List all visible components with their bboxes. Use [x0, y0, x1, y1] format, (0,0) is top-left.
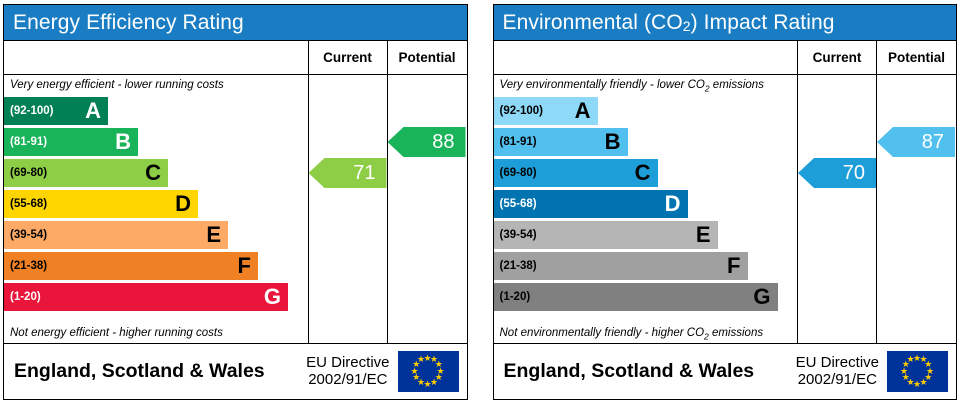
- energy-band-a-range: (92-100): [10, 105, 53, 117]
- energy-bars-column: Very energy efficient - lower running co…: [4, 75, 309, 343]
- co2-band-d: (55-68) D: [494, 190, 688, 218]
- energy-band-b-letter: B: [115, 131, 131, 153]
- co2-band-b-letter: B: [605, 131, 621, 153]
- energy-potential-arrow: 88: [388, 127, 466, 157]
- energy-chart-footer: England, Scotland & Wales EU Directive 2…: [4, 344, 467, 398]
- energy-band-e-letter: E: [206, 224, 221, 246]
- table-row: (55-68) D: [4, 188, 308, 219]
- co2-band-c: (69-80) C: [494, 159, 658, 187]
- co2-band-f-letter: F: [727, 255, 740, 277]
- energy-directive-line2: 2002/91/EC: [306, 371, 389, 388]
- co2-impact-rating-chart: Environmental (CO2) Impact Rating Curren…: [493, 4, 957, 400]
- co2-top-note: Very environmentally friendly - lower CO…: [494, 75, 798, 94]
- energy-top-note-text: Very energy efficient - lower running co…: [10, 79, 224, 91]
- co2-chart-title-tail: ) Impact Rating: [691, 11, 835, 35]
- co2-band-b: (81-91) B: [494, 128, 628, 156]
- energy-directive-line1: EU Directive: [306, 354, 389, 371]
- energy-band-c-letter: C: [145, 162, 161, 184]
- energy-band-c-range: (69-80): [10, 167, 47, 179]
- co2-band-c-letter: C: [635, 162, 651, 184]
- co2-band-c-range: (69-80): [500, 167, 537, 179]
- eu-star-icon: ★: [417, 355, 425, 364]
- energy-band-g-range: (1-20): [10, 291, 41, 303]
- table-row: (55-68) D: [494, 188, 798, 219]
- energy-chart-title: Energy Efficiency Rating: [4, 5, 467, 41]
- table-row: (1-20) G: [4, 281, 308, 312]
- co2-bars-column: Very environmentally friendly - lower CO…: [494, 75, 799, 343]
- energy-header-current: Current: [309, 41, 388, 74]
- eu-flag-icon: ★★★★★★★★★★★★: [887, 351, 948, 392]
- energy-footer-directive: EU Directive 2002/91/EC: [306, 354, 397, 389]
- energy-current-arrow: 71: [309, 158, 387, 188]
- co2-potential-arrow: 87: [877, 127, 955, 157]
- energy-band-c: (69-80) C: [4, 159, 168, 187]
- co2-band-g-letter: G: [753, 286, 770, 308]
- co2-band-d-letter: D: [665, 193, 681, 215]
- energy-potential-value: 88: [432, 131, 454, 154]
- energy-header-potential: Potential: [388, 41, 467, 74]
- co2-band-a-range: (92-100): [500, 105, 543, 117]
- table-row: (69-80) C: [494, 157, 798, 188]
- co2-band-e-letter: E: [696, 224, 711, 246]
- energy-band-d-range: (55-68): [10, 198, 47, 210]
- co2-current-value: 70: [843, 162, 865, 185]
- energy-chart-title-text: Energy Efficiency Rating: [13, 11, 244, 35]
- co2-header-spacer: [494, 41, 799, 74]
- energy-band-e: (39-54) E: [4, 221, 228, 249]
- table-row: (21-38) F: [4, 250, 308, 281]
- energy-band-g-letter: G: [264, 286, 281, 308]
- energy-band-d: (55-68) D: [4, 190, 198, 218]
- co2-bottom-note: Not environmentally friendly - higher CO…: [494, 323, 764, 342]
- co2-chart-footer: England, Scotland & Wales EU Directive 2…: [494, 344, 957, 398]
- co2-band-f: (21-38) F: [494, 252, 748, 280]
- energy-band-a: (92-100) A: [4, 97, 108, 125]
- co2-bottom-note-text: Not environmentally friendly - higher CO: [500, 327, 705, 339]
- co2-current-column: 70: [798, 75, 877, 343]
- eu-flag-icon: ★★★★★★★★★★★★: [398, 351, 459, 392]
- energy-footer-region: England, Scotland & Wales: [4, 360, 306, 383]
- energy-chart-header-row: Current Potential: [4, 41, 467, 75]
- energy-current-column: 71: [309, 75, 388, 343]
- energy-efficiency-rating-chart: Energy Efficiency Rating Current Potenti…: [3, 4, 468, 400]
- co2-header-current: Current: [798, 41, 877, 74]
- co2-chart-title: Environmental (CO2) Impact Rating: [494, 5, 957, 41]
- co2-band-e: (39-54) E: [494, 221, 718, 249]
- energy-band-f-range: (21-38): [10, 260, 47, 272]
- co2-chart-title-text: Environmental (CO: [503, 11, 683, 35]
- energy-top-note: Very energy efficient - lower running co…: [4, 75, 308, 94]
- energy-current-value: 71: [353, 162, 375, 185]
- co2-band-e-range: (39-54): [500, 229, 537, 241]
- table-row: (69-80) C: [4, 157, 308, 188]
- table-row: (81-91) B: [494, 126, 798, 157]
- energy-band-e-range: (39-54): [10, 229, 47, 241]
- energy-band-d-letter: D: [175, 193, 191, 215]
- energy-bottom-note: Not energy efficient - higher running co…: [4, 323, 223, 342]
- energy-band-f-letter: F: [238, 255, 251, 277]
- energy-band-f: (21-38) F: [4, 252, 258, 280]
- energy-band-a-letter: A: [85, 100, 101, 122]
- co2-top-note-post: emissions: [710, 79, 764, 91]
- co2-chart-header-row: Current Potential: [494, 41, 957, 75]
- co2-directive-line2: 2002/91/EC: [796, 371, 879, 388]
- energy-band-list: (92-100) A (81-91) B (69-80) C: [4, 94, 308, 343]
- table-row: (39-54) E: [494, 219, 798, 250]
- table-row: (81-91) B: [4, 126, 308, 157]
- energy-chart-body: Very energy efficient - lower running co…: [4, 75, 467, 344]
- co2-footer-directive: EU Directive 2002/91/EC: [796, 354, 887, 389]
- co2-directive-line1: EU Directive: [796, 354, 879, 371]
- co2-band-list: (92-100) A (81-91) B (69-80) C: [494, 94, 798, 343]
- co2-top-note-text: Very environmentally friendly - lower CO: [500, 79, 705, 91]
- table-row: (92-100) A: [494, 95, 798, 126]
- table-row: (1-20) G: [494, 281, 798, 312]
- co2-potential-value: 87: [922, 131, 944, 154]
- table-row: (21-38) F: [494, 250, 798, 281]
- co2-current-arrow: 70: [798, 158, 876, 188]
- co2-title-subscript: 2: [683, 18, 691, 34]
- energy-potential-column: 88: [388, 75, 467, 343]
- co2-band-a: (92-100) A: [494, 97, 598, 125]
- energy-header-spacer: [4, 41, 309, 74]
- co2-band-b-range: (81-91): [500, 136, 537, 148]
- co2-band-f-range: (21-38): [500, 260, 537, 272]
- energy-band-b-range: (81-91): [10, 136, 47, 148]
- co2-band-d-range: (55-68): [500, 198, 537, 210]
- co2-potential-column: 87: [877, 75, 956, 343]
- co2-chart-body: Very environmentally friendly - lower CO…: [494, 75, 957, 344]
- co2-band-g: (1-20) G: [494, 283, 778, 311]
- co2-band-a-letter: A: [575, 100, 591, 122]
- co2-footer-region: England, Scotland & Wales: [494, 360, 796, 383]
- energy-band-g: (1-20) G: [4, 283, 288, 311]
- energy-band-b: (81-91) B: [4, 128, 138, 156]
- eu-star-icon: ★: [907, 355, 915, 364]
- co2-bottom-note-post: emissions: [709, 327, 763, 339]
- table-row: (39-54) E: [4, 219, 308, 250]
- energy-bottom-note-text: Not energy efficient - higher running co…: [10, 327, 223, 339]
- table-row: (92-100) A: [4, 95, 308, 126]
- epc-charts-container: Energy Efficiency Rating Current Potenti…: [0, 0, 957, 400]
- co2-band-g-range: (1-20): [500, 291, 531, 303]
- co2-header-potential: Potential: [877, 41, 956, 74]
